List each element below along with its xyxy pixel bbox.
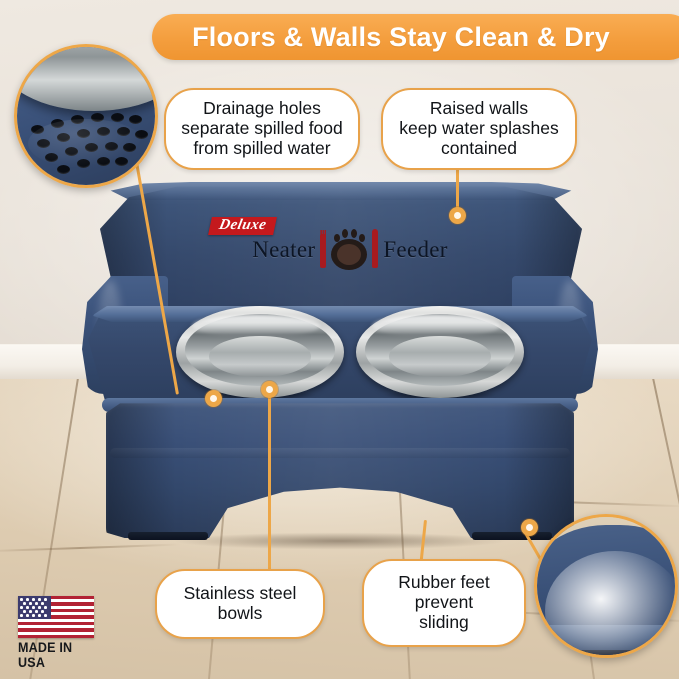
callout-line: prevent	[398, 593, 489, 613]
made-in-usa-badge: MADE IN USA	[18, 596, 100, 658]
callout-line: separate spilled food	[181, 119, 343, 139]
callout-line: bowls	[184, 604, 297, 624]
callout-line: Stainless steel	[184, 584, 297, 604]
inset-rubber-feet	[534, 514, 678, 658]
neater-feeder-product: Neater Feeder Deluxe	[82, 180, 598, 546]
callout-line: keep water splashes	[399, 119, 559, 139]
stainless-bowl-right	[356, 306, 524, 398]
callout-raised-walls: Raised walls keep water splashes contain…	[381, 88, 577, 170]
header-banner: Floors & Walls Stay Clean & Dry	[152, 14, 679, 60]
product-logo: Neater Feeder	[242, 222, 458, 278]
callout-rubber-feet: Rubber feet prevent sliding	[362, 559, 526, 647]
paw-bowl-icon	[318, 228, 380, 272]
callout-line: sliding	[398, 613, 489, 633]
callout-line: Rubber feet	[398, 573, 489, 593]
infographic-canvas: Neater Feeder Deluxe	[0, 0, 679, 679]
base-shading	[106, 402, 574, 538]
leader-dot-walls	[449, 207, 466, 224]
callout-stainless-bowls: Stainless steel bowls	[155, 569, 325, 639]
callout-line: Raised walls	[399, 99, 559, 119]
leader-dot-bowls	[261, 381, 278, 398]
callout-line: contained	[399, 139, 559, 159]
made-in-usa-label: MADE IN USA	[18, 640, 94, 670]
callout-drainage-holes: Drainage holes separate spilled food fro…	[164, 88, 360, 170]
logo-word-neater: Neater	[252, 237, 315, 263]
leader-line-bowls	[268, 390, 271, 572]
knife-icon	[372, 234, 378, 268]
fork-icon	[320, 234, 326, 268]
us-flag-icon	[18, 596, 94, 638]
leader-dot-drainage	[205, 390, 222, 407]
logo-word-feeder: Feeder	[383, 237, 447, 263]
inset-drainage-holes	[14, 44, 158, 188]
callout-line: Drainage holes	[181, 99, 343, 119]
callout-line: from spilled water	[181, 139, 343, 159]
stainless-bowl-left	[176, 306, 344, 398]
banner-title: Floors & Walls Stay Clean & Dry	[192, 22, 652, 53]
rubber-foot-left	[128, 532, 208, 540]
logo-deluxe-tag: Deluxe	[208, 217, 277, 235]
leader-dot-feet	[521, 519, 538, 536]
bowl-glyph	[331, 239, 367, 270]
